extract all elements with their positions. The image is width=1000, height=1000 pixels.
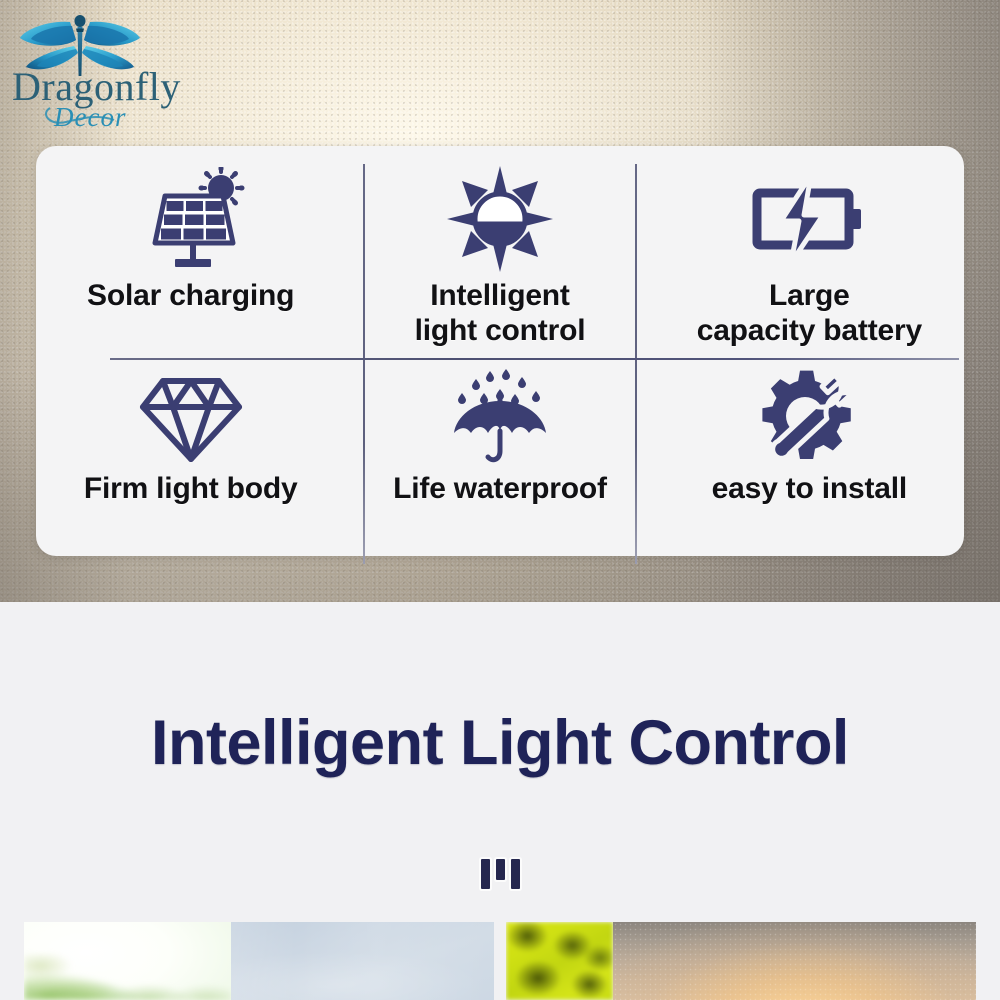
three-bars-icon [0, 855, 1000, 889]
section-heading: Intelligent Light Control [0, 712, 1000, 775]
sun-light-sensor-icon [445, 160, 555, 278]
umbrella-rain-icon [446, 365, 554, 471]
feature-item-solar-charging: Solar charging [36, 146, 345, 351]
product-detail-page: Dragonfly Decor [0, 0, 1000, 1000]
yellow-leaves [506, 922, 613, 1000]
pale-blue-wall [231, 922, 494, 1000]
bar-1 [481, 859, 490, 889]
feature-item-firm-light-body: Firm light body [36, 351, 345, 556]
diamond-icon [139, 365, 243, 471]
bar-3 [511, 859, 520, 889]
feature-label: easy to install [712, 471, 907, 506]
grid-divider-vertical-left [363, 164, 365, 564]
gear-wrench-icon [757, 365, 861, 471]
feature-grid: Solar charging [36, 146, 964, 556]
foliage-blur [24, 954, 231, 1000]
solar-panel-body [155, 196, 233, 243]
feature-item-large-capacity-battery: Large capacity battery [655, 146, 964, 351]
feature-item-easy-to-install: easy to install [655, 351, 964, 556]
solar-panel-icon [133, 160, 249, 278]
feature-label: Firm light body [84, 471, 298, 506]
feature-item-intelligent-light-control: Intelligent light control [345, 146, 654, 351]
daylight-off-photo [24, 922, 494, 1000]
feature-label: Solar charging [87, 278, 294, 313]
feature-item-life-waterproof: Life waterproof [345, 351, 654, 556]
feature-label: Life waterproof [393, 471, 607, 506]
comparison-photo-strip [0, 922, 1000, 1000]
feature-label: Intelligent light control [415, 278, 586, 349]
feature-label: Large capacity battery [697, 278, 922, 349]
grid-divider-horizontal [110, 358, 959, 360]
amber-lit-wall [613, 922, 976, 1000]
feature-highlights-card: Solar charging [36, 146, 964, 556]
battery-charging-icon [749, 160, 869, 278]
night-on-photo [506, 922, 976, 1000]
bar-2 [496, 859, 505, 880]
grid-divider-vertical-right [635, 164, 637, 564]
